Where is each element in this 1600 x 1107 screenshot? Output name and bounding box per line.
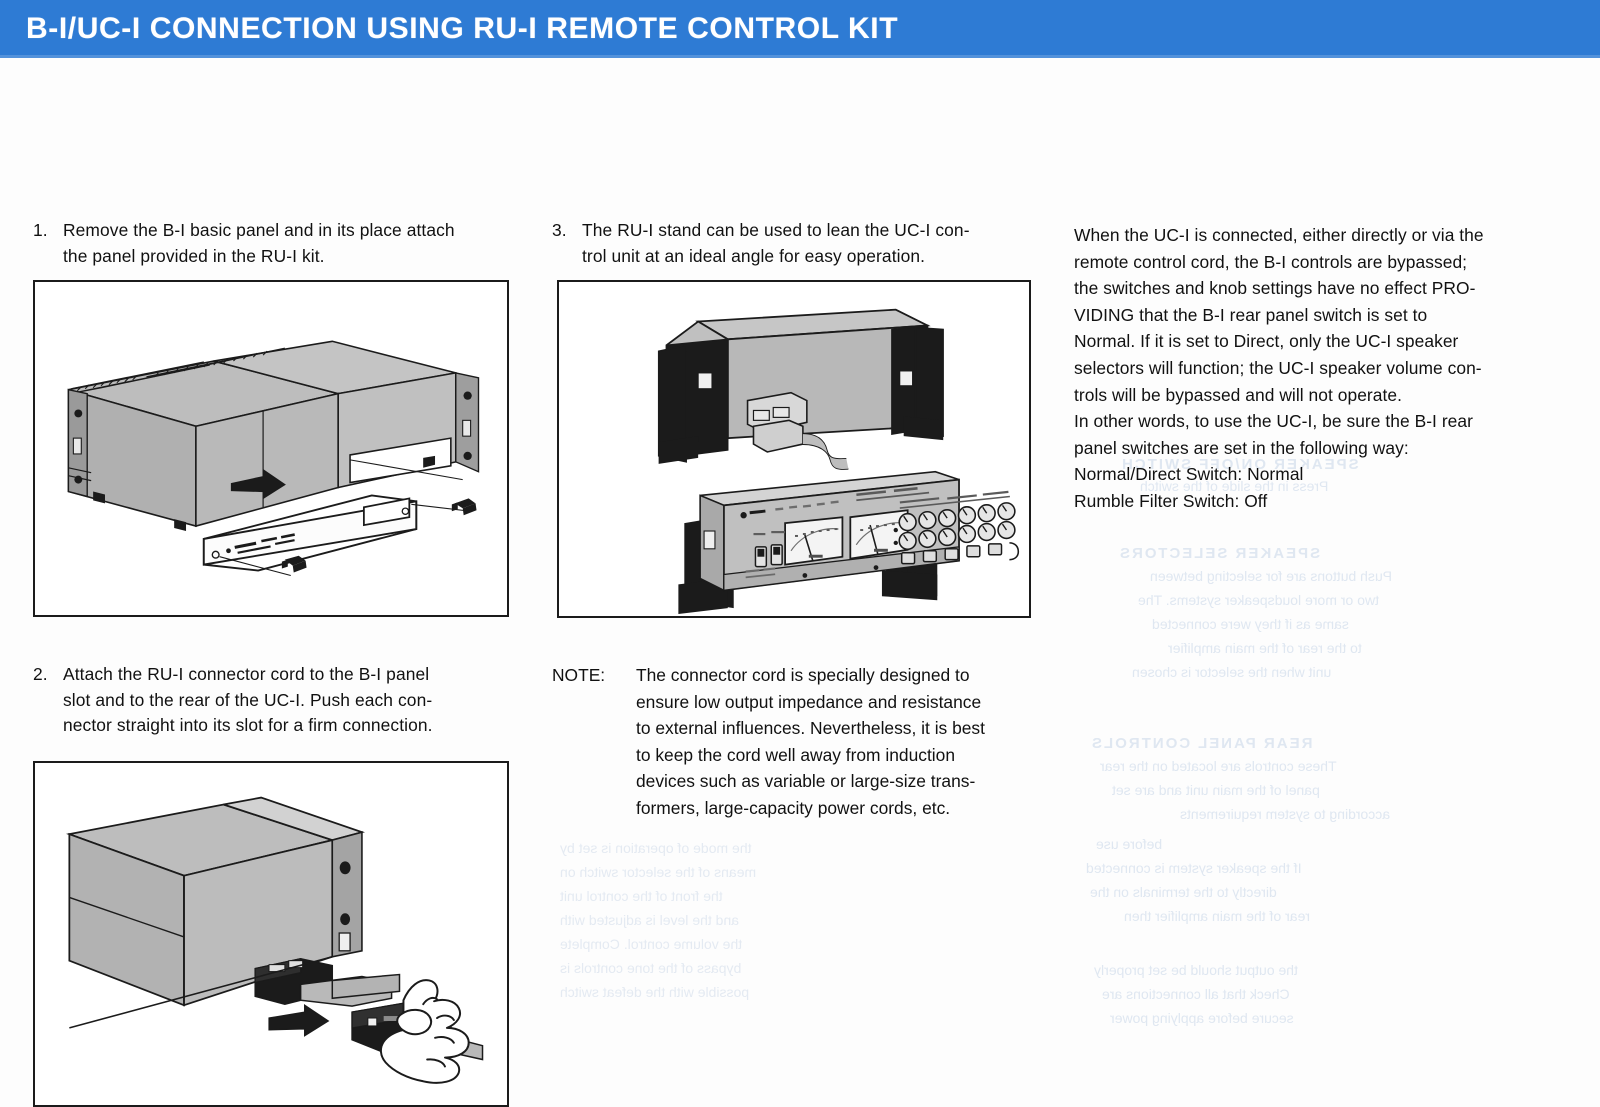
column-three: When the UC-I is connected, either direc… <box>1074 222 1550 515</box>
note-line-6: formers, large-capacity power cords, etc… <box>636 795 1034 822</box>
column-one: 1. Remove the B-I basic panel and in its… <box>33 218 511 269</box>
showthrough-line: If the speaker system is connected <box>1086 860 1302 876</box>
showthrough-line: Push buttons are for selecting between <box>1150 568 1392 584</box>
step-2-line-3: nector straight into its slot for a firm… <box>63 713 511 739</box>
step-3-line-1: The RU-I stand can be used to lean the U… <box>582 218 1032 244</box>
figure-1-b1-panel-removal <box>33 280 509 617</box>
note-line-4: to keep the cord well away from inductio… <box>636 742 1034 769</box>
note-line-5: devices such as variable or large-size t… <box>636 768 1034 795</box>
showthrough-line: before use <box>1096 836 1162 852</box>
figure-3-illustration <box>559 282 1029 616</box>
showthrough-line: according to system requirements <box>1180 806 1390 822</box>
showthrough-line: Check that all connections are <box>1102 986 1290 1002</box>
showthrough-line: the front of the control unit <box>560 888 723 904</box>
showthrough-line: These controls are located on the rear <box>1100 758 1337 774</box>
step-3-text: The RU-I stand can be used to lean the U… <box>582 218 1032 269</box>
right-col-line-1: When the UC-I is connected, either direc… <box>1074 222 1550 249</box>
showthrough-line: directly to the terminals on the <box>1090 884 1277 900</box>
step-1: 1. Remove the B-I basic panel and in its… <box>33 218 511 269</box>
step-2-number: 2. <box>33 662 63 688</box>
page-header-banner: B-I/UC-I CONNECTION USING RU-I REMOTE CO… <box>0 0 1600 58</box>
showthrough-line: REAR PANEL CONTROLS <box>1090 735 1312 752</box>
page-title: B-I/UC-I CONNECTION USING RU-I REMOTE CO… <box>26 12 898 46</box>
step-3: 3. The RU-I stand can be used to lean th… <box>552 218 1032 269</box>
note-block: NOTE: The connector cord is specially de… <box>552 662 1034 821</box>
right-col-line-11: Rumble Filter Switch: Off <box>1074 488 1550 515</box>
note-label: NOTE: <box>552 662 636 689</box>
step-1-line-2: the panel provided in the RU-I kit. <box>63 244 511 270</box>
showthrough-line: possible with the defeat switch <box>560 984 749 1000</box>
showthrough-line: the volume control. Complete <box>560 936 742 952</box>
showthrough-line: two or more loudspeaker systems. The <box>1138 592 1379 608</box>
showthrough-line: unit when the selector is chosen <box>1132 664 1331 680</box>
right-col-line-5: Normal. If it is set to Direct, only the… <box>1074 328 1550 355</box>
step-2-line-1: Attach the RU-I connector cord to the B-… <box>63 662 511 688</box>
column-two-note: NOTE: The connector cord is specially de… <box>552 662 1034 821</box>
right-col-line-9: panel switches are set in the following … <box>1074 435 1550 462</box>
showthrough-line: to the rear of the main amplifier <box>1168 640 1362 656</box>
step-2-line-2: slot and to the rear of the UC-I. Push e… <box>63 688 511 714</box>
showthrough-line: SPEAKER SELECTORS <box>1118 545 1320 562</box>
hand-icon <box>397 1010 431 1034</box>
showthrough-line: panel of the main unit and are set <box>1112 782 1320 798</box>
note-line-1: The connector cord is specially designed… <box>636 662 1034 689</box>
showthrough-line: the output should be set properly <box>1094 962 1298 978</box>
showthrough-line: and the level is adjusted with <box>560 912 739 928</box>
showthrough-line: rear of the main amplifier then <box>1124 908 1310 924</box>
step-1-number: 1. <box>33 218 63 244</box>
figure-2-connector-insertion <box>33 761 509 1107</box>
right-col-line-2: remote control cord, the B-I controls ar… <box>1074 249 1550 276</box>
right-col-line-10: Normal/Direct Switch: Normal <box>1074 461 1550 488</box>
column-one-lower: 2. Attach the RU-I connector cord to the… <box>33 662 511 739</box>
showthrough-line: means of the selector switch on <box>560 864 756 880</box>
step-1-text: Remove the B-I basic panel and in its pl… <box>63 218 511 269</box>
note-text: The connector cord is specially designed… <box>636 662 1034 821</box>
right-col-line-3: the switches and knob settings have no e… <box>1074 275 1550 302</box>
figure-1-illustration <box>35 282 507 615</box>
showthrough-line: the mode of operation is set by <box>560 840 751 856</box>
page-root: B-I/UC-I CONNECTION USING RU-I REMOTE CO… <box>0 0 1600 1107</box>
note-line-3: to external influences. Nevertheless, it… <box>636 715 1034 742</box>
figure-3-rui-stand-and-uci-unit <box>557 280 1031 618</box>
step-1-line-1: Remove the B-I basic panel and in its pl… <box>63 218 511 244</box>
step-2-text: Attach the RU-I connector cord to the B-… <box>63 662 511 739</box>
showthrough-line: same as if they were connected <box>1152 616 1349 632</box>
showthrough-line: secure before applying power <box>1110 1010 1294 1026</box>
showthrough-line: bypass of the tone controls is <box>560 960 741 976</box>
step-2: 2. Attach the RU-I connector cord to the… <box>33 662 511 739</box>
right-col-line-4: VIDING that the B-I rear panel switch is… <box>1074 302 1550 329</box>
column-two: 3. The RU-I stand can be used to lean th… <box>552 218 1032 269</box>
right-col-line-8: In other words, to use the UC-I, be sure… <box>1074 408 1550 435</box>
right-col-line-6: selectors will function; the UC-I speake… <box>1074 355 1550 382</box>
right-col-line-7: trols will be bypassed and will not oper… <box>1074 382 1550 409</box>
step-3-line-2: trol unit at an ideal angle for easy ope… <box>582 244 1032 270</box>
step-3-number: 3. <box>552 218 582 244</box>
figure-2-illustration <box>35 763 507 1105</box>
note-line-2: ensure low output impedance and resistan… <box>636 689 1034 716</box>
